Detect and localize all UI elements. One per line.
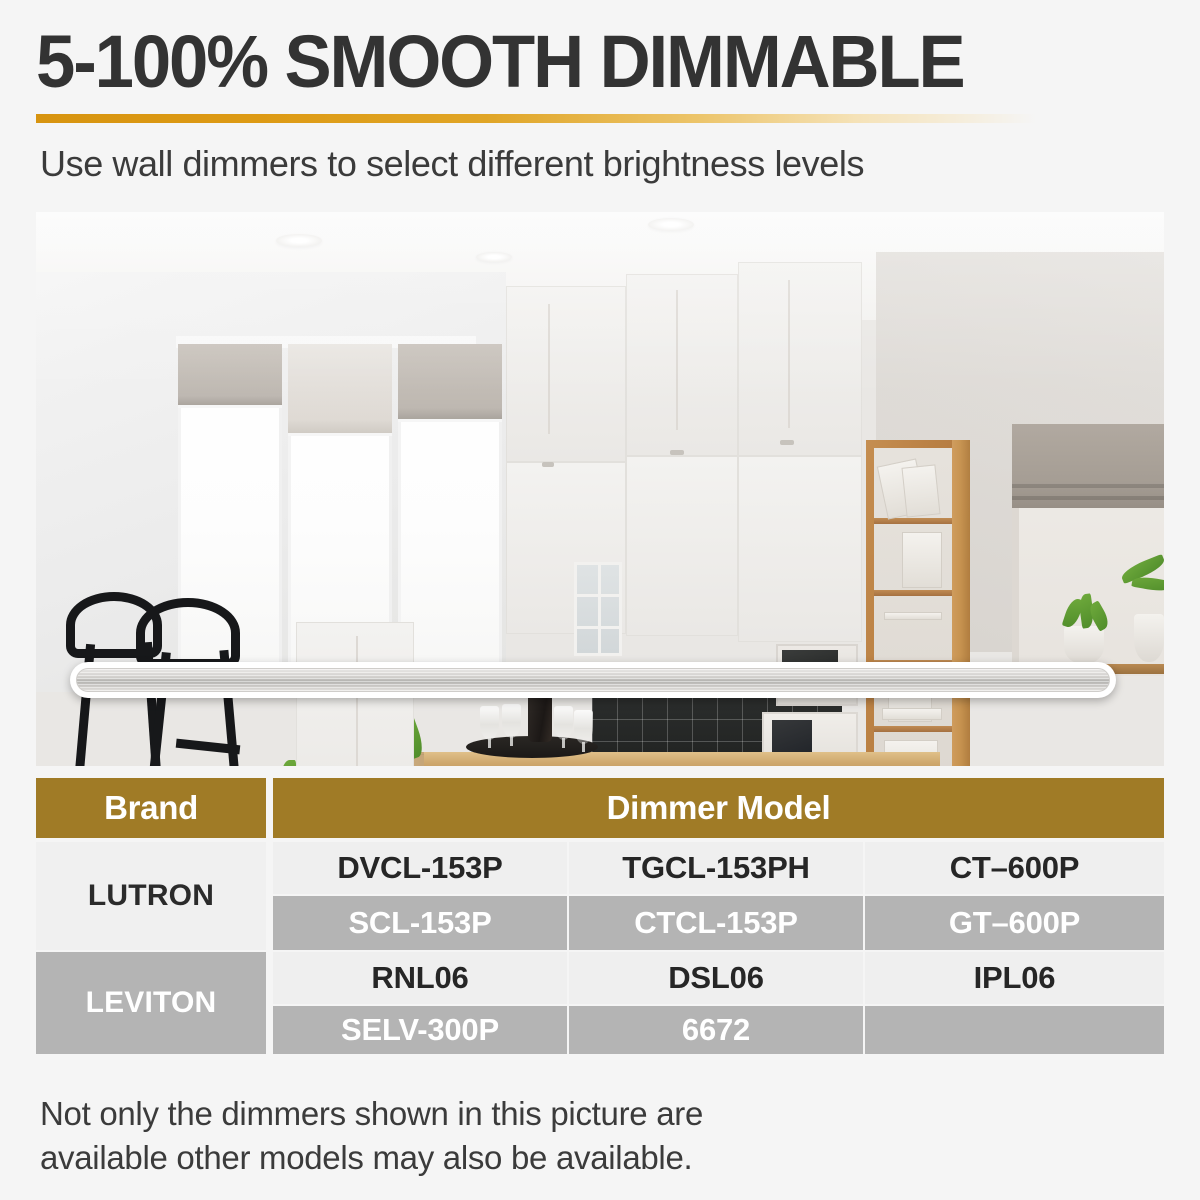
table-cell-model-empty xyxy=(865,1006,1164,1054)
footnote-line-2: available other models may also be avail… xyxy=(40,1136,840,1180)
footnote: Not only the dimmers shown in this pictu… xyxy=(40,1092,840,1180)
dimmer-compatibility-table: Brand Dimmer Model LUTRON LEVITON DVCL-1… xyxy=(36,778,1164,1054)
table-cell-model: GT–600P xyxy=(865,896,1164,950)
page-subtitle: Use wall dimmers to select different bri… xyxy=(40,142,864,186)
table-brand-leviton: LEVITON xyxy=(36,952,266,1054)
table-cell-model: CTCL-153P xyxy=(569,896,863,950)
table-cell-model: SCL-153P xyxy=(273,896,567,950)
dimmer-slider[interactable] xyxy=(70,662,1116,698)
table-cell-model: RNL06 xyxy=(273,952,567,1004)
table-header-brand: Brand xyxy=(36,778,266,838)
table-cell-model: SELV-300P xyxy=(273,1006,567,1054)
table-header-model: Dimmer Model xyxy=(273,778,1164,838)
table-cell-model: IPL06 xyxy=(865,952,1164,1004)
table-cell-model: CT–600P xyxy=(865,842,1164,894)
table-cell-model: DSL06 xyxy=(569,952,863,1004)
table-brand-lutron: LUTRON xyxy=(36,842,266,950)
table-cell-model: 6672 xyxy=(569,1006,863,1054)
table-cell-model: DVCL-153P xyxy=(273,842,567,894)
page-title: 5-100% SMOOTH DIMMABLE xyxy=(36,22,1125,102)
table-cell-model: TGCL-153PH xyxy=(569,842,863,894)
infographic-page: 5-100% SMOOTH DIMMABLE Use wall dimmers … xyxy=(0,0,1200,1200)
dimmer-slider-track[interactable] xyxy=(76,668,1110,692)
footnote-line-1: Not only the dimmers shown in this pictu… xyxy=(40,1092,840,1136)
accent-rule xyxy=(36,114,1036,123)
